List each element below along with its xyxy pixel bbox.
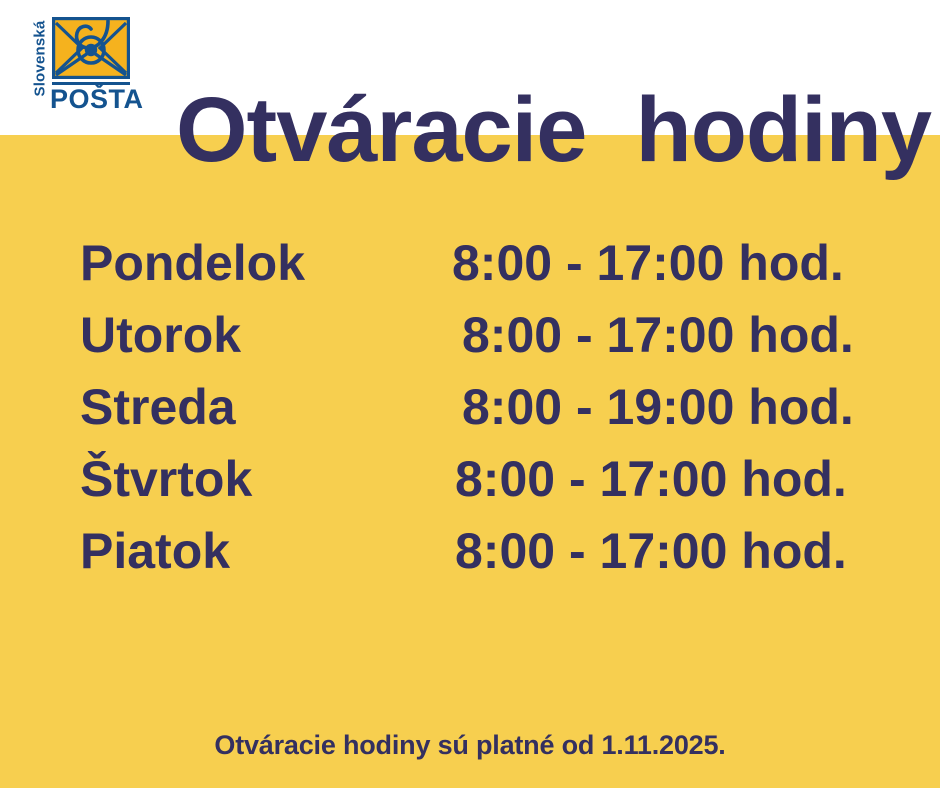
- day-hours: 8:00 - 17:00 hod.: [462, 304, 854, 376]
- day-hours: 8:00 - 19:00 hod.: [462, 376, 854, 448]
- opening-hours-poster: Slovenská POŠTA Otváracie hodiny Pondelo…: [0, 0, 940, 788]
- day-hours: 8:00 - 17:00 hod.: [455, 448, 847, 520]
- slovenska-posta-logo: Slovenská POŠTA: [16, 12, 146, 122]
- table-row: Streda 8:00 - 19:00 hod.: [0, 376, 940, 448]
- opening-hours-table: Pondelok 8:00 - 17:00 hod. Utorok 8:00 -…: [0, 232, 940, 592]
- day-label: Pondelok: [80, 232, 305, 304]
- day-label: Štvrtok: [80, 448, 252, 520]
- table-row: Pondelok 8:00 - 17:00 hod.: [0, 232, 940, 304]
- day-label: Streda: [80, 376, 236, 448]
- table-row: Štvrtok 8:00 - 17:00 hod.: [0, 448, 940, 520]
- logo-wordmark: POŠTA: [50, 86, 136, 113]
- header-band: Slovenská POŠTA Otváracie hodiny: [0, 0, 940, 135]
- table-row: Piatok 8:00 - 17:00 hod.: [0, 520, 940, 592]
- day-hours: 8:00 - 17:00 hod.: [452, 232, 844, 304]
- day-label: Utorok: [80, 304, 241, 376]
- page-title: Otváracie hodiny: [176, 78, 916, 182]
- logo-vertical-text: Slovenská: [32, 11, 49, 107]
- validity-note: Otváracie hodiny sú platné od 1.11.2025.: [0, 730, 940, 761]
- day-hours: 8:00 - 17:00 hod.: [455, 520, 847, 592]
- day-label: Piatok: [80, 520, 230, 592]
- post-horn-envelope-icon: [52, 17, 130, 79]
- table-row: Utorok 8:00 - 17:00 hod.: [0, 304, 940, 376]
